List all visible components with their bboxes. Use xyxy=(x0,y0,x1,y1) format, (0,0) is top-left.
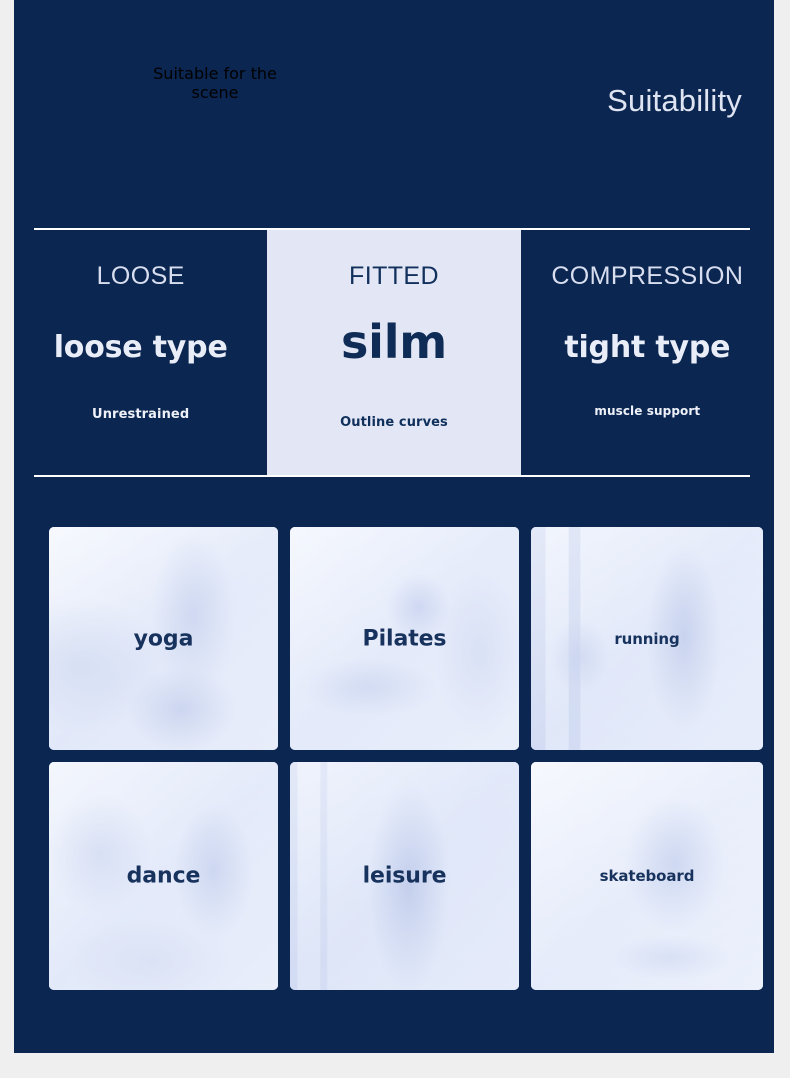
fit-column-fitted-head: FITTED xyxy=(349,262,439,291)
scene-card-yoga-label: yoga xyxy=(49,626,278,651)
scene-card-dance-label: dance xyxy=(49,864,278,889)
fit-column-compression[interactable]: COMPRESSION tight type muscle support xyxy=(521,230,774,475)
fit-column-loose-note: Unrestrained xyxy=(92,407,189,422)
scene-card-running-label: running xyxy=(531,630,763,648)
scene-card-leisure-label: leisure xyxy=(290,864,519,889)
fit-column-compression-head: COMPRESSION xyxy=(551,262,743,291)
fit-comparison-table: LOOSE loose type Unrestrained FITTED sil… xyxy=(14,228,774,478)
fit-column-fitted[interactable]: FITTED silm Outline curves xyxy=(267,230,520,475)
page-title-line-2: scene xyxy=(50,83,380,102)
fit-column-loose-head: LOOSE xyxy=(97,262,185,291)
fit-column-loose-main: loose type xyxy=(54,330,228,365)
header-right-label: Suitability xyxy=(607,83,742,119)
page-title-line-1: Suitable for the xyxy=(50,64,380,83)
scene-grid: yoga Pilates running dance leisure skate… xyxy=(49,527,779,994)
scene-card-skateboard[interactable]: skateboard xyxy=(531,762,763,990)
fit-column-fitted-main: silm xyxy=(341,315,447,369)
page-title: Suitable for the scene xyxy=(50,64,380,102)
fit-column-compression-note: muscle support xyxy=(594,404,700,418)
scene-card-leisure[interactable]: leisure xyxy=(290,762,519,990)
scene-card-pilates-label: Pilates xyxy=(290,626,519,651)
fit-column-fitted-note: Outline curves xyxy=(340,415,448,430)
scene-card-dance[interactable]: dance xyxy=(49,762,278,990)
suitability-panel: Suitable for the scene Suitability LOOSE… xyxy=(14,0,774,1053)
scene-card-running[interactable]: running xyxy=(531,527,763,750)
panel-header: Suitable for the scene Suitability xyxy=(14,0,774,228)
scene-card-pilates[interactable]: Pilates xyxy=(290,527,519,750)
scene-card-skateboard-label: skateboard xyxy=(531,867,763,885)
fit-column-compression-main: tight type xyxy=(564,330,730,365)
scene-card-yoga[interactable]: yoga xyxy=(49,527,278,750)
fit-column-loose[interactable]: LOOSE loose type Unrestrained xyxy=(14,230,267,475)
fit-columns: LOOSE loose type Unrestrained FITTED sil… xyxy=(14,230,774,475)
table-bottom-divider xyxy=(34,475,750,477)
